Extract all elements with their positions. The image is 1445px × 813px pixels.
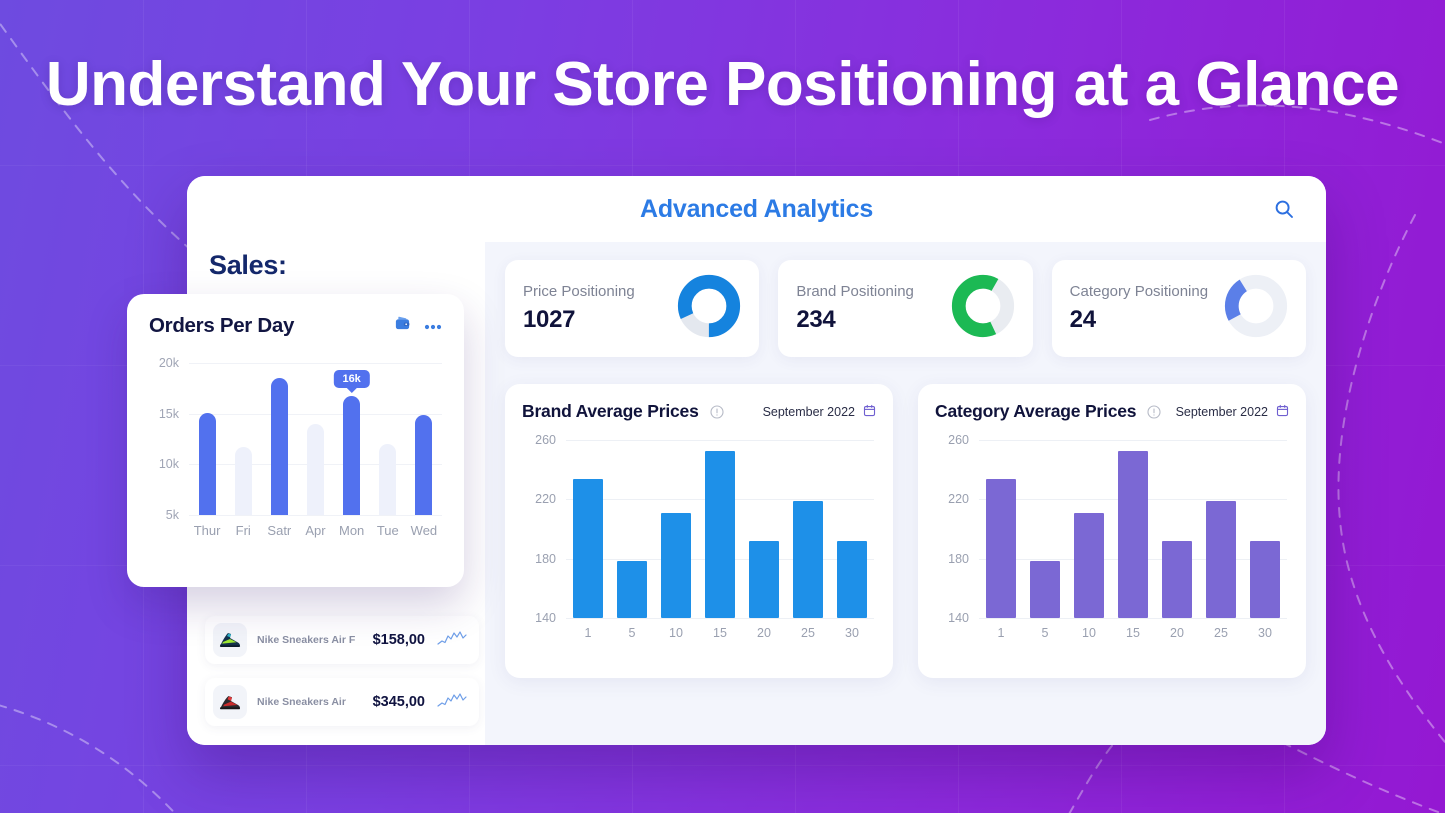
bar bbox=[793, 501, 823, 618]
bar bbox=[986, 479, 1016, 618]
chart-title: Brand Average Prices bbox=[522, 401, 699, 422]
y-tick: 260 bbox=[535, 433, 556, 447]
plot-area bbox=[566, 440, 874, 618]
analytics-content: Price Positioning 1027 Brand Posi bbox=[485, 242, 1326, 745]
bar bbox=[415, 415, 432, 515]
wallet-icon[interactable] bbox=[394, 315, 411, 337]
bar bbox=[661, 513, 691, 618]
x-tick: 1 bbox=[566, 626, 610, 640]
y-axis-labels: 260 220 180 140 bbox=[935, 440, 969, 618]
donut-chart-category bbox=[1224, 274, 1288, 343]
calendar-icon bbox=[863, 404, 876, 420]
stat-value: 24 bbox=[1070, 306, 1208, 334]
x-tick: 25 bbox=[1199, 626, 1243, 640]
x-axis-labels: 1 5 10 15 20 25 30 bbox=[566, 626, 874, 640]
orders-card-title: Orders Per Day bbox=[149, 314, 294, 338]
x-tick: 15 bbox=[1111, 626, 1155, 640]
chart-header: Category Average Prices September 2022 bbox=[935, 401, 1289, 422]
chart-title: Category Average Prices bbox=[935, 401, 1136, 422]
x-tick: Fri bbox=[225, 523, 261, 538]
x-tick: Satr bbox=[261, 523, 297, 538]
x-tick: 25 bbox=[786, 626, 830, 640]
x-tick: 10 bbox=[1067, 626, 1111, 640]
chart-header: Brand Average Prices September 2022 bbox=[522, 401, 876, 422]
more-dots-icon[interactable] bbox=[424, 317, 442, 335]
x-tick: 15 bbox=[698, 626, 742, 640]
sneaker-red-icon bbox=[213, 685, 247, 719]
y-tick: 220 bbox=[948, 492, 969, 506]
x-tick: Mon bbox=[334, 523, 370, 538]
product-name: Nike Sneakers Air F bbox=[257, 634, 355, 646]
search-icon[interactable] bbox=[1270, 195, 1298, 223]
stat-label: Category Positioning bbox=[1070, 283, 1208, 300]
y-tick: 140 bbox=[535, 611, 556, 625]
chart-date-selector[interactable]: September 2022 bbox=[763, 404, 876, 420]
donut-chart-brand bbox=[951, 274, 1015, 343]
info-circle-icon[interactable] bbox=[710, 405, 724, 419]
page-title: Understand Your Store Positioning at a G… bbox=[0, 52, 1445, 117]
plot-area bbox=[979, 440, 1287, 618]
bar bbox=[199, 413, 216, 515]
x-tick: 5 bbox=[610, 626, 654, 640]
orders-bar-chart: 20k 15k 10k 5k 16k bbox=[149, 363, 442, 563]
x-tick: Wed bbox=[406, 523, 442, 538]
stat-card-row: Price Positioning 1027 Brand Posi bbox=[505, 260, 1306, 357]
bar bbox=[749, 541, 779, 618]
y-tick: 180 bbox=[948, 552, 969, 566]
y-tick: 260 bbox=[948, 433, 969, 447]
x-tick: Thur bbox=[189, 523, 225, 538]
bar bbox=[1030, 561, 1060, 618]
bar bbox=[1250, 541, 1280, 618]
donut-chart-price bbox=[677, 274, 741, 343]
orders-per-day-card: Orders Per Day bbox=[127, 294, 464, 587]
product-price: $345,00 bbox=[365, 694, 425, 710]
product-price: $158,00 bbox=[365, 632, 425, 648]
sparkline-icon bbox=[437, 630, 467, 651]
bar bbox=[617, 561, 647, 618]
panel-title: Advanced Analytics bbox=[640, 195, 873, 224]
bar bbox=[837, 541, 867, 618]
bar bbox=[235, 447, 252, 515]
stat-card-category-positioning[interactable]: Category Positioning 24 bbox=[1052, 260, 1306, 357]
y-tick: 5k bbox=[166, 508, 179, 522]
bar-chart-category: 260 220 180 140 bbox=[935, 440, 1289, 655]
sneaker-teal-icon bbox=[213, 623, 247, 657]
bar bbox=[1118, 451, 1148, 618]
promo-stage: Understand Your Store Positioning at a G… bbox=[0, 0, 1445, 813]
bar-series bbox=[979, 440, 1287, 618]
chart-date-label: September 2022 bbox=[1176, 405, 1268, 419]
bar bbox=[1162, 541, 1192, 618]
product-list: Nike Sneakers Air F $158,00 bbox=[205, 616, 479, 740]
y-tick: 20k bbox=[159, 356, 179, 370]
x-tick: 30 bbox=[1243, 626, 1287, 640]
sales-heading: Sales: bbox=[209, 250, 287, 281]
y-tick: 180 bbox=[535, 552, 556, 566]
stat-value: 234 bbox=[796, 306, 914, 334]
x-tick: Apr bbox=[297, 523, 333, 538]
chart-date-selector[interactable]: September 2022 bbox=[1176, 404, 1289, 420]
bar-tooltip: 16k bbox=[333, 370, 369, 388]
y-axis-labels: 20k 15k 10k 5k bbox=[149, 363, 179, 515]
chart-card-category-average-prices: Category Average Prices September 2022 bbox=[918, 384, 1306, 678]
x-tick: 20 bbox=[742, 626, 786, 640]
list-item[interactable]: Nike Sneakers Air F $158,00 bbox=[205, 616, 479, 664]
sparkline-icon bbox=[437, 692, 467, 713]
bar-series bbox=[566, 440, 874, 618]
stat-label: Brand Positioning bbox=[796, 283, 914, 300]
x-tick: 30 bbox=[830, 626, 874, 640]
x-tick: 5 bbox=[1023, 626, 1067, 640]
y-axis-labels: 260 220 180 140 bbox=[522, 440, 556, 618]
chart-card-row: Brand Average Prices September 2022 bbox=[505, 384, 1306, 678]
chart-card-brand-average-prices: Brand Average Prices September 2022 bbox=[505, 384, 893, 678]
x-tick: 1 bbox=[979, 626, 1023, 640]
y-tick: 15k bbox=[159, 407, 179, 421]
y-tick: 220 bbox=[535, 492, 556, 506]
bar bbox=[307, 424, 324, 515]
stat-card-brand-positioning[interactable]: Brand Positioning 234 bbox=[778, 260, 1032, 357]
chart-date-label: September 2022 bbox=[763, 405, 855, 419]
calendar-icon bbox=[1276, 404, 1289, 420]
bar bbox=[705, 451, 735, 618]
bar bbox=[343, 396, 360, 515]
y-tick: 10k bbox=[159, 457, 179, 471]
orders-card-actions bbox=[394, 315, 442, 337]
bar-chart-brand: 260 220 180 140 bbox=[522, 440, 876, 655]
x-axis-labels: Thur Fri Satr Apr Mon Tue Wed bbox=[189, 523, 442, 538]
bar-series: 16k bbox=[189, 363, 442, 515]
bar bbox=[573, 479, 603, 618]
x-axis-labels: 1 5 10 15 20 25 30 bbox=[979, 626, 1287, 640]
x-tick: Tue bbox=[370, 523, 406, 538]
bar bbox=[1074, 513, 1104, 618]
x-tick: 20 bbox=[1155, 626, 1199, 640]
x-tick: 10 bbox=[654, 626, 698, 640]
stat-label: Price Positioning bbox=[523, 283, 635, 300]
stat-value: 1027 bbox=[523, 306, 635, 334]
orders-card-header: Orders Per Day bbox=[149, 314, 442, 338]
info-circle-icon[interactable] bbox=[1147, 405, 1161, 419]
product-name: Nike Sneakers Air bbox=[257, 696, 346, 708]
bar bbox=[1206, 501, 1236, 618]
y-tick: 140 bbox=[948, 611, 969, 625]
panel-header: Advanced Analytics bbox=[187, 176, 1326, 242]
bar bbox=[271, 378, 288, 515]
stat-card-price-positioning[interactable]: Price Positioning 1027 bbox=[505, 260, 759, 357]
list-item[interactable]: Nike Sneakers Air $345,00 bbox=[205, 678, 479, 726]
bar bbox=[379, 444, 396, 515]
